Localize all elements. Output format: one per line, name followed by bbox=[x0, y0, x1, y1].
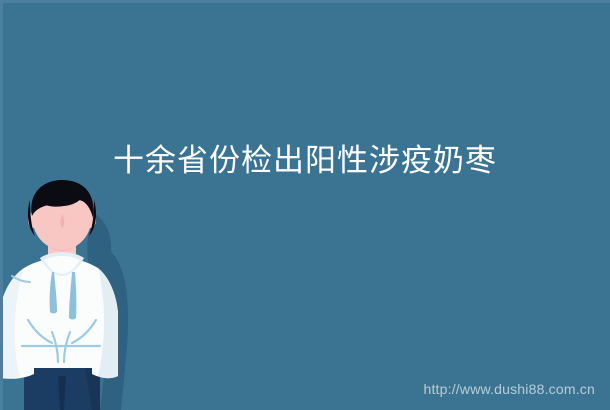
watermark-url: http://www.dushi88.com.cn bbox=[423, 381, 595, 397]
news-thumbnail-card: 十余省份检出阳性涉疫奶枣 http://www.dushi88.com.cn bbox=[0, 0, 610, 410]
headline-text: 十余省份检出阳性涉疫奶枣 bbox=[0, 141, 610, 181]
pants bbox=[24, 362, 100, 410]
person-illustration bbox=[0, 180, 150, 410]
